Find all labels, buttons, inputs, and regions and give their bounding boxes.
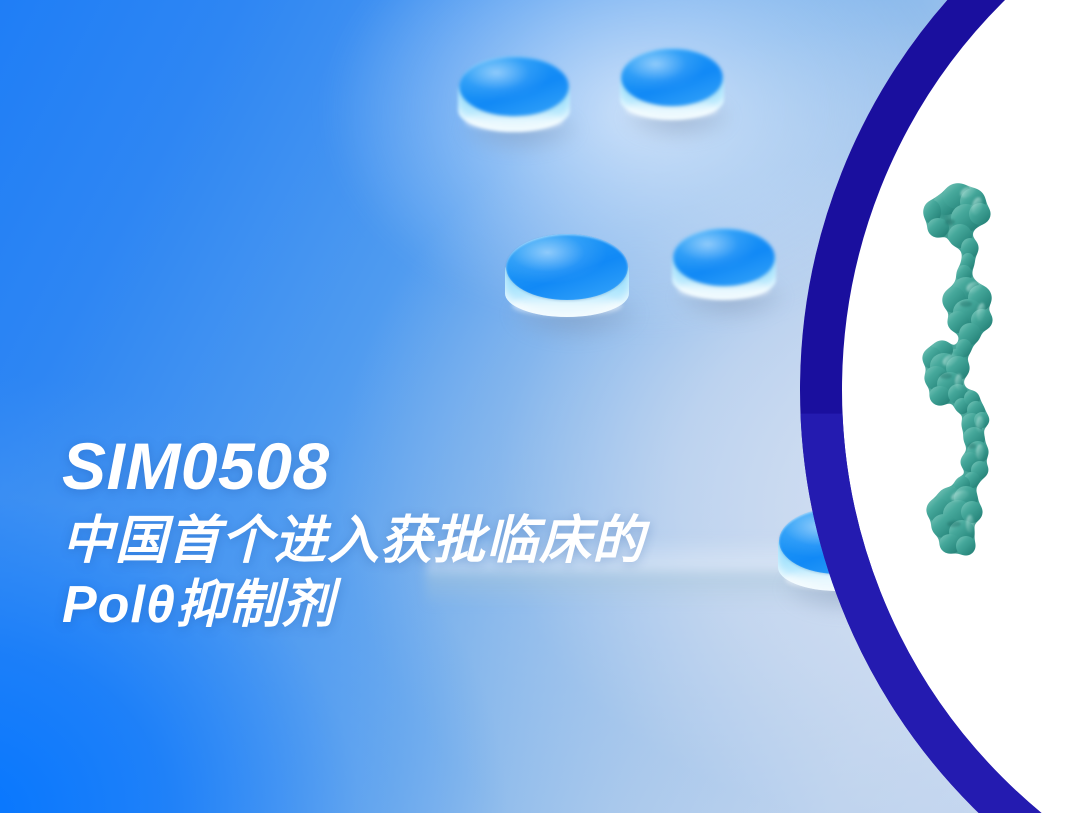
subtitle-line-1: 中国首个进入获批临床的 (62, 509, 842, 573)
protein-ribbon-surface (880, 152, 1066, 572)
product-code-title: SIM0508 (62, 432, 842, 501)
headline-block: SIM0508 中国首个进入获批临床的 Polθ抑制剂 (62, 432, 842, 638)
subtitle-block: 中国首个进入获批临床的 Polθ抑制剂 (62, 509, 842, 638)
poster-canvas: SIM0508 中国首个进入获批临床的 Polθ抑制剂 (0, 0, 1066, 813)
subtitle-line-2: Polθ抑制剂 (62, 573, 842, 637)
